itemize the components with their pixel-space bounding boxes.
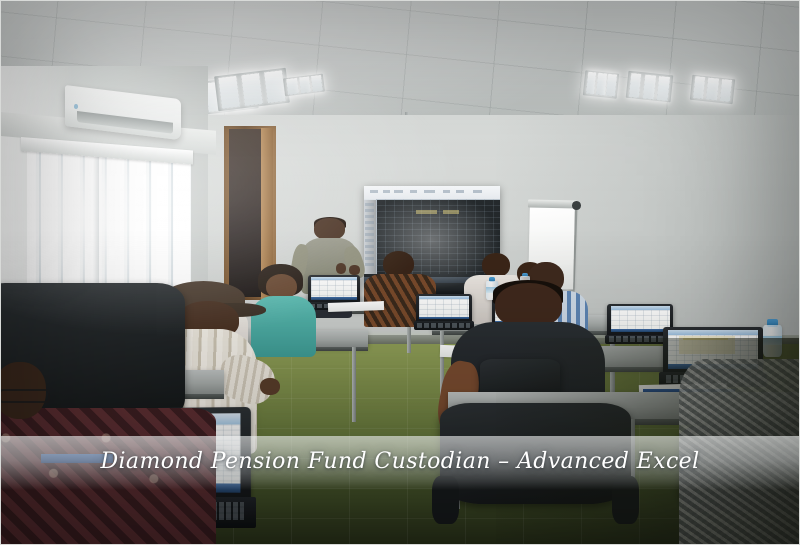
screen-excel-highlight [443,210,459,214]
eyeglasses-icon [0,389,50,403]
ceiling-light-fixture [582,70,618,98]
screen-excel-highlight [416,210,438,214]
training-room-photo: Diamond Pension Fund Custodian – Advance… [0,0,800,545]
ceiling-light-fixture [626,70,673,102]
screen-excel-ribbon [364,186,500,200]
caption-text: Diamond Pension Fund Custodian – Advance… [1,449,799,474]
participant-ankara-print [0,408,216,544]
floor-shadow [496,338,799,544]
ceiling-light-fixture [690,75,735,104]
flipchart-clamp [528,199,578,208]
